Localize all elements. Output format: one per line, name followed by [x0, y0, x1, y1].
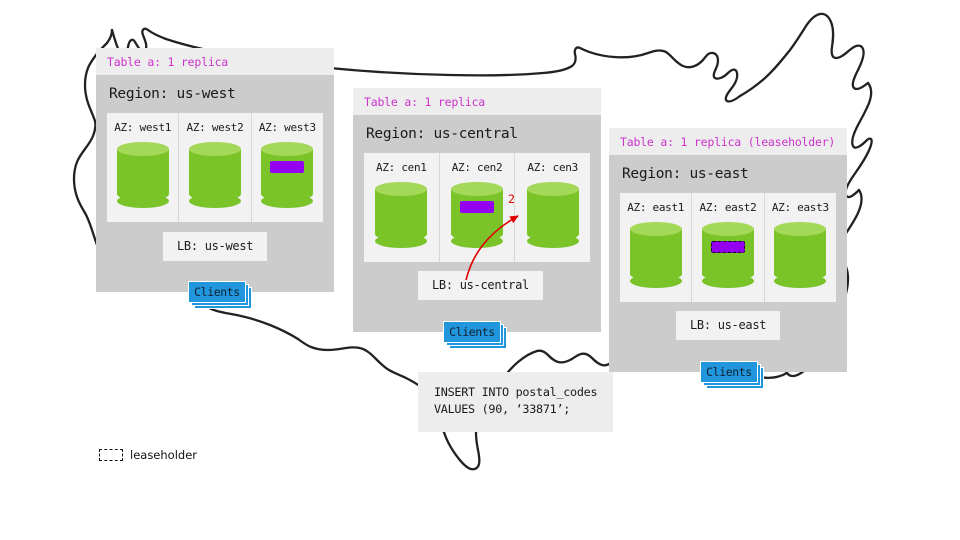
az-cell-west2[interactable]: AZ: west2: [179, 113, 251, 222]
cylinder-top-icon: [630, 222, 682, 236]
cylinder-body-icon: [630, 229, 682, 281]
node-cylinder-cen1[interactable]: [375, 182, 427, 248]
az-row-us-east: AZ: east1 AZ: east2 AZ: east3: [620, 193, 836, 302]
replica-banner-us-west: Table a: 1 replica: [96, 48, 334, 75]
region-title-us-west: Region: us-west: [109, 86, 323, 102]
node-cylinder-west2[interactable]: [189, 142, 241, 208]
clients-stack-us-west[interactable]: Clients: [188, 281, 246, 303]
az-label-cen1: AZ: cen1: [368, 161, 435, 174]
node-cylinder-east3[interactable]: [774, 222, 826, 288]
load-balancer-us-west[interactable]: LB: us-west: [163, 232, 267, 261]
node-cylinder-west1[interactable]: [117, 142, 169, 208]
cylinder-body-icon: [117, 149, 169, 201]
az-cell-cen1[interactable]: AZ: cen1: [364, 153, 440, 262]
cylinder-top-icon: [261, 142, 313, 156]
az-label-west1: AZ: west1: [111, 121, 174, 134]
az-cell-cen3[interactable]: AZ: cen3: [515, 153, 590, 262]
cylinder-body-icon: [774, 229, 826, 281]
load-balancer-us-east[interactable]: LB: us-east: [676, 311, 780, 340]
cylinder-body-icon: [261, 149, 313, 201]
cylinder-top-icon: [527, 182, 579, 196]
cylinder-top-icon: [702, 222, 754, 236]
az-label-cen2: AZ: cen2: [444, 161, 511, 174]
az-label-west3: AZ: west3: [256, 121, 319, 134]
clients-label-us-west: Clients: [188, 281, 246, 303]
replica-chunk-cen2: [460, 201, 494, 213]
node-cylinder-east1[interactable]: [630, 222, 682, 288]
replica-banner-us-east: Table a: 1 replica (leaseholder): [609, 128, 847, 155]
cylinder-body-icon: [451, 189, 503, 241]
node-cylinder-west3[interactable]: [261, 142, 313, 208]
node-cylinder-cen3[interactable]: [527, 182, 579, 248]
diagram-canvas: Table a: 1 replica Region: us-west AZ: w…: [0, 0, 960, 540]
legend: leaseholder: [99, 448, 197, 462]
node-cylinder-east2[interactable]: [702, 222, 754, 288]
cylinder-top-icon: [774, 222, 826, 236]
replica-banner-us-central: Table a: 1 replica: [353, 88, 601, 115]
arrow-step-number-2: 2: [508, 192, 515, 206]
az-cell-east1[interactable]: AZ: east1: [620, 193, 692, 302]
leaseholder-chunk-east2: [711, 241, 745, 253]
cylinder-body-icon: [702, 229, 754, 281]
cylinder-body-icon: [527, 189, 579, 241]
cylinder-top-icon: [375, 182, 427, 196]
az-row-us-central: AZ: cen1 AZ: cen2 AZ: cen3: [364, 153, 590, 262]
az-cell-west3[interactable]: AZ: west3: [252, 113, 323, 222]
az-label-east3: AZ: east3: [769, 201, 832, 214]
node-cylinder-cen2[interactable]: [451, 182, 503, 248]
cylinder-top-icon: [189, 142, 241, 156]
clients-label-us-east: Clients: [700, 361, 758, 383]
legend-label: leaseholder: [130, 448, 197, 462]
cylinder-body-icon: [375, 189, 427, 241]
az-label-cen3: AZ: cen3: [519, 161, 586, 174]
load-balancer-us-central[interactable]: LB: us-central: [418, 271, 543, 300]
clients-label-us-central: Clients: [443, 321, 501, 343]
clients-stack-us-central[interactable]: Clients: [443, 321, 501, 343]
az-label-east2: AZ: east2: [696, 201, 759, 214]
clients-stack-us-east[interactable]: Clients: [700, 361, 758, 383]
az-cell-cen2[interactable]: AZ: cen2: [440, 153, 516, 262]
az-cell-west1[interactable]: AZ: west1: [107, 113, 179, 222]
az-label-west2: AZ: west2: [183, 121, 246, 134]
replica-chunk-west3: [270, 161, 304, 173]
region-title-us-east: Region: us-east: [622, 166, 836, 182]
sql-statement-callout: INSERT INTO postal_codes VALUES (90, ‘33…: [418, 372, 613, 432]
az-cell-east2[interactable]: AZ: east2: [692, 193, 764, 302]
region-title-us-central: Region: us-central: [366, 126, 590, 142]
az-row-us-west: AZ: west1 AZ: west2 AZ: west3: [107, 113, 323, 222]
cylinder-body-icon: [189, 149, 241, 201]
dashed-rect-icon: [99, 449, 123, 461]
cylinder-top-icon: [117, 142, 169, 156]
az-cell-east3[interactable]: AZ: east3: [765, 193, 836, 302]
cylinder-top-icon: [451, 182, 503, 196]
az-label-east1: AZ: east1: [624, 201, 687, 214]
